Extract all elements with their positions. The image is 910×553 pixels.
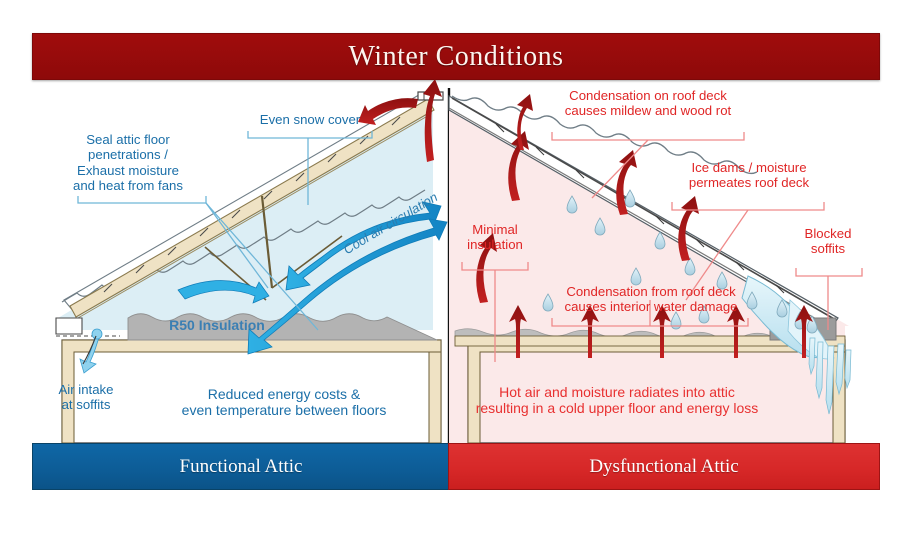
callout-air-intake-at-soffits: Air intake at soffits: [34, 382, 138, 413]
callout-even-snow-cover: Even snow cover: [236, 112, 384, 127]
callout-hot-air-moisture: Hot air and moisture radiates into attic…: [452, 384, 782, 416]
callout-r50-insulation: R50 Insulation: [152, 317, 282, 333]
callout-ice-dams-moisture: Ice dams / moisture permeates roof deck: [668, 160, 830, 191]
footer-banner-functional: Functional Attic: [32, 443, 450, 490]
callout-reduced-energy-costs: Reduced energy costs & even temperature …: [158, 386, 410, 418]
callout-blocked-soffits: Blocked soffits: [790, 226, 866, 257]
callout-minimal-insulation: Minimal insulation: [456, 222, 534, 253]
footer-label-dysfunctional: Dysfunctional Attic: [589, 456, 738, 478]
callout-condensation-roof-deck: Condensation on roof deck causes mildew …: [548, 88, 748, 119]
footer-label-functional: Functional Attic: [180, 456, 303, 478]
diagram-root: Winter Conditions: [0, 0, 910, 553]
callout-seal-attic-floor: Seal attic floor penetrations / Exhaust …: [46, 132, 210, 193]
footer-banner-dysfunctional: Dysfunctional Attic: [448, 443, 880, 490]
callout-condensation-interior: Condensation from roof deck causes inter…: [548, 284, 754, 315]
